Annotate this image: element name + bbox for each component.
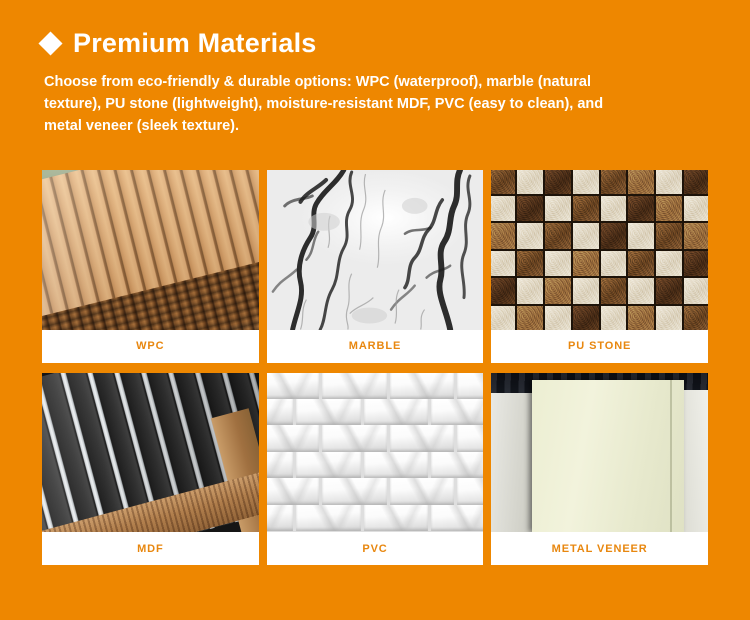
mosaic-tile <box>601 251 627 277</box>
section-description: Choose from eco-friendly & durable optio… <box>44 71 644 137</box>
brick <box>457 425 483 451</box>
brick <box>267 452 293 478</box>
mosaic-tile <box>573 196 599 222</box>
brick <box>267 478 319 504</box>
brick-row <box>267 373 484 399</box>
mosaic-tile <box>573 170 599 194</box>
material-image-wpc <box>42 170 259 330</box>
mosaic-tile <box>628 251 654 277</box>
brick <box>390 425 455 451</box>
diamond-icon <box>38 31 62 55</box>
materials-grid: WPC <box>42 170 708 565</box>
mosaic-tile <box>656 196 682 222</box>
mosaic-tile <box>491 278 515 304</box>
material-card-mdf[interactable]: MDF <box>42 373 259 566</box>
mosaic-tile <box>491 251 515 277</box>
brick <box>431 452 483 478</box>
brick <box>267 425 319 451</box>
brick <box>296 399 361 425</box>
material-label-metal-veneer: METAL VENEER <box>491 532 708 565</box>
mosaic-tile <box>491 223 515 249</box>
mosaic-tile <box>684 278 708 304</box>
brick-row <box>267 399 484 425</box>
mosaic-tile <box>684 306 708 330</box>
brick <box>267 505 293 531</box>
brick-row <box>267 478 484 504</box>
mosaic-tile <box>491 196 515 222</box>
mosaic-tile <box>517 196 543 222</box>
mosaic-tile <box>545 251 571 277</box>
title-row: Premium Materials <box>42 30 708 57</box>
brick <box>322 425 387 451</box>
mosaic-tile <box>573 251 599 277</box>
material-image-mdf <box>42 373 259 533</box>
mosaic-tile <box>601 278 627 304</box>
mosaic-tile <box>656 251 682 277</box>
mosaic-tile <box>573 306 599 330</box>
mosaic-tile <box>573 223 599 249</box>
mosaic-tile <box>517 223 543 249</box>
material-label-pvc: PVC <box>267 532 484 565</box>
mosaic-tile <box>491 306 515 330</box>
mosaic-tile <box>684 251 708 277</box>
mosaic-tile <box>545 278 571 304</box>
mosaic-tile <box>601 223 627 249</box>
material-card-pu-stone[interactable]: PU STONE <box>491 170 708 363</box>
mosaic-tile <box>491 170 515 194</box>
mosaic-tile <box>684 223 708 249</box>
brick <box>322 478 387 504</box>
mosaic-tile <box>545 223 571 249</box>
brick <box>431 399 483 425</box>
mosaic-tile <box>573 278 599 304</box>
brick <box>457 373 483 399</box>
material-card-wpc[interactable]: WPC <box>42 170 259 363</box>
mosaic-tile <box>628 170 654 194</box>
mosaic-tile <box>628 278 654 304</box>
brick <box>364 452 429 478</box>
brick <box>390 478 455 504</box>
mosaic-tile <box>517 306 543 330</box>
mosaic-tile <box>656 170 682 194</box>
mosaic-tile <box>517 251 543 277</box>
page-title: Premium Materials <box>73 30 317 57</box>
mosaic-tile <box>628 196 654 222</box>
mosaic-tile <box>628 306 654 330</box>
mosaic-tile <box>601 170 627 194</box>
mosaic-tile <box>545 170 571 194</box>
brick <box>364 505 429 531</box>
material-image-metal-veneer <box>491 373 708 533</box>
mosaic-tile <box>656 223 682 249</box>
mosaic-tile <box>601 196 627 222</box>
mosaic-tile <box>545 306 571 330</box>
brick <box>322 373 387 399</box>
mosaic-tile <box>601 306 627 330</box>
material-label-mdf: MDF <box>42 532 259 565</box>
mosaic-tile <box>684 170 708 194</box>
brick <box>296 452 361 478</box>
material-card-marble[interactable]: MARBLE <box>267 170 484 363</box>
material-label-marble: MARBLE <box>267 330 484 363</box>
mosaic-tile <box>656 306 682 330</box>
brick <box>390 373 455 399</box>
mosaic-tile <box>517 278 543 304</box>
brick <box>431 505 483 531</box>
brick <box>296 505 361 531</box>
material-image-pvc <box>267 373 484 533</box>
brick <box>364 399 429 425</box>
mosaic-tile <box>517 170 543 194</box>
mosaic-tile <box>545 196 571 222</box>
material-image-marble <box>267 170 484 330</box>
premium-materials-section: Premium Materials Choose from eco-friend… <box>0 0 750 620</box>
brick-row <box>267 452 484 478</box>
material-label-wpc: WPC <box>42 330 259 363</box>
mosaic-tile <box>628 223 654 249</box>
section-header: Premium Materials Choose from eco-friend… <box>42 30 708 137</box>
material-label-pu-stone: PU STONE <box>491 330 708 363</box>
material-image-pu-stone <box>491 170 708 330</box>
mosaic-tile <box>656 278 682 304</box>
mosaic-tile <box>684 196 708 222</box>
brick <box>267 399 293 425</box>
material-card-pvc[interactable]: PVC <box>267 373 484 566</box>
brick <box>457 478 483 504</box>
material-card-metal-veneer[interactable]: METAL VENEER <box>491 373 708 566</box>
brick <box>267 373 319 399</box>
brick-row <box>267 505 484 531</box>
brick-row <box>267 425 484 451</box>
